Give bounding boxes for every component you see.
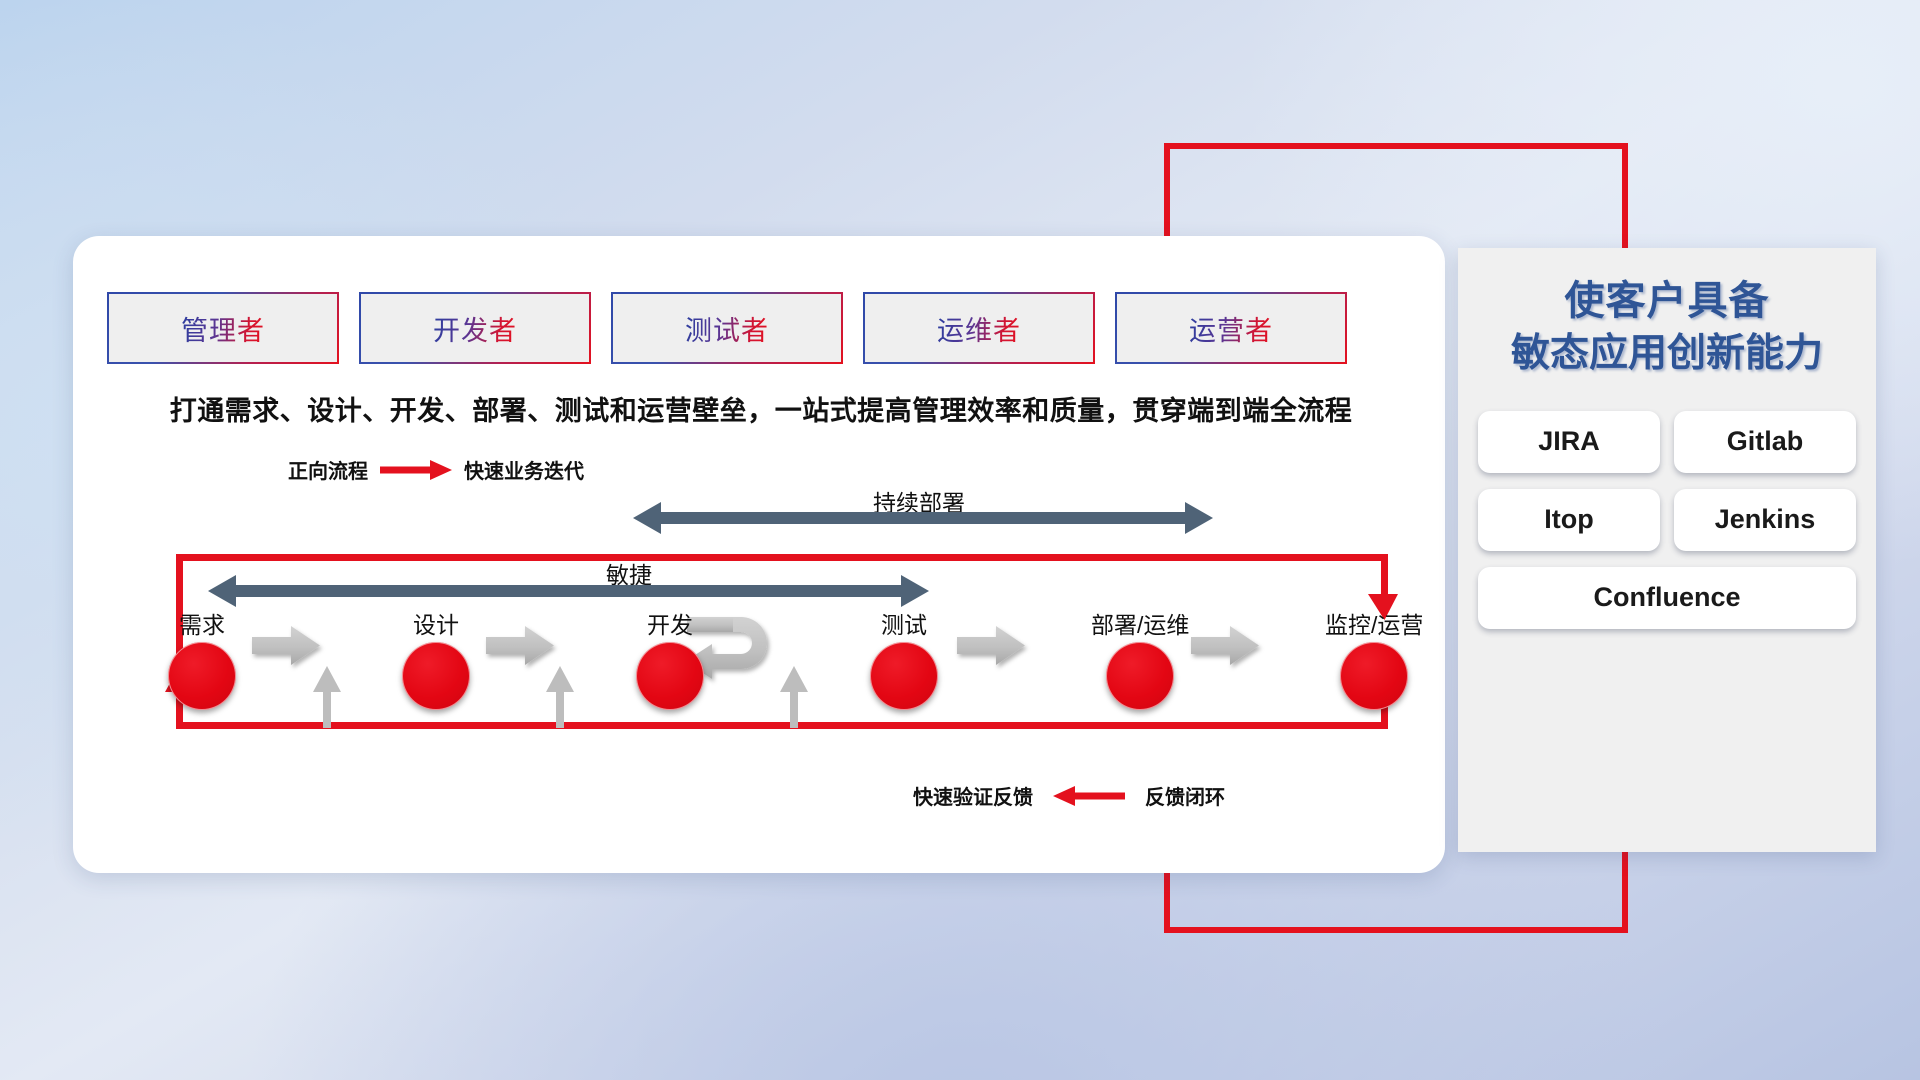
red-left-arrow-icon [1053,786,1125,806]
legend-feedback-right-label: 反馈闭环 [1145,781,1225,810]
pipeline-stage-row: 需求 设计 开发 测试 部署/运维 监控/运营 [73,236,1445,873]
legend-feedback-loop: 快速验证反馈 反馈闭环 [913,781,1225,810]
capability-panel-title: 使客户具备 敏态应用创新能力 [1458,248,1876,381]
legend-feedback-left-label: 快速验证反馈 [913,781,1033,810]
stage-dot [402,642,470,710]
pipeline-stage-test[interactable]: 测试 [870,606,938,710]
capability-title-line-2: 敏态应用创新能力 [1458,328,1876,381]
tool-chip-gitlab[interactable]: Gitlab [1674,411,1856,473]
stage-dot [870,642,938,710]
stage-label: 测试 [881,606,927,640]
pipeline-stage-monitor-operate[interactable]: 监控/运营 [1325,606,1423,710]
capability-title-line-1: 使客户具备 [1458,274,1876,328]
stage-label: 部署/运维 [1091,606,1189,640]
capability-panel: 使客户具备 敏态应用创新能力 JIRA Gitlab Itop Jenkins … [1458,248,1876,852]
stage-dot [1106,642,1174,710]
tool-chip-label: JIRA [1538,426,1600,457]
tool-chip-jenkins[interactable]: Jenkins [1674,489,1856,551]
stage-label: 开发 [647,606,693,640]
tool-chip-label: Confluence [1593,582,1740,613]
pipeline-stage-design[interactable]: 设计 [402,606,470,710]
stage-label: 需求 [179,606,225,640]
tool-chip-label: Gitlab [1727,426,1804,457]
tool-chip-confluence[interactable]: Confluence [1478,567,1856,629]
stage-dot [636,642,704,710]
tool-chip-label: Jenkins [1715,504,1816,535]
tool-chip-label: Itop [1544,504,1593,535]
tool-chip-itop[interactable]: Itop [1478,489,1660,551]
stage-label: 监控/运营 [1325,606,1423,640]
tool-chip-jira[interactable]: JIRA [1478,411,1660,473]
pipeline-stage-requirements[interactable]: 需求 [168,606,236,710]
stage-dot [1340,642,1408,710]
pipeline-stage-develop[interactable]: 开发 [636,606,704,710]
stage-dot [168,642,236,710]
tool-chip-list: JIRA Gitlab Itop Jenkins Confluence [1458,381,1876,629]
stage-label: 设计 [413,606,459,640]
pipeline-stage-deploy-ops[interactable]: 部署/运维 [1091,606,1189,710]
main-diagram-card: 管理者 开发者 测试者 运维者 运营者 打通需求、设计、开发、部署、测试和运营壁… [73,236,1445,873]
